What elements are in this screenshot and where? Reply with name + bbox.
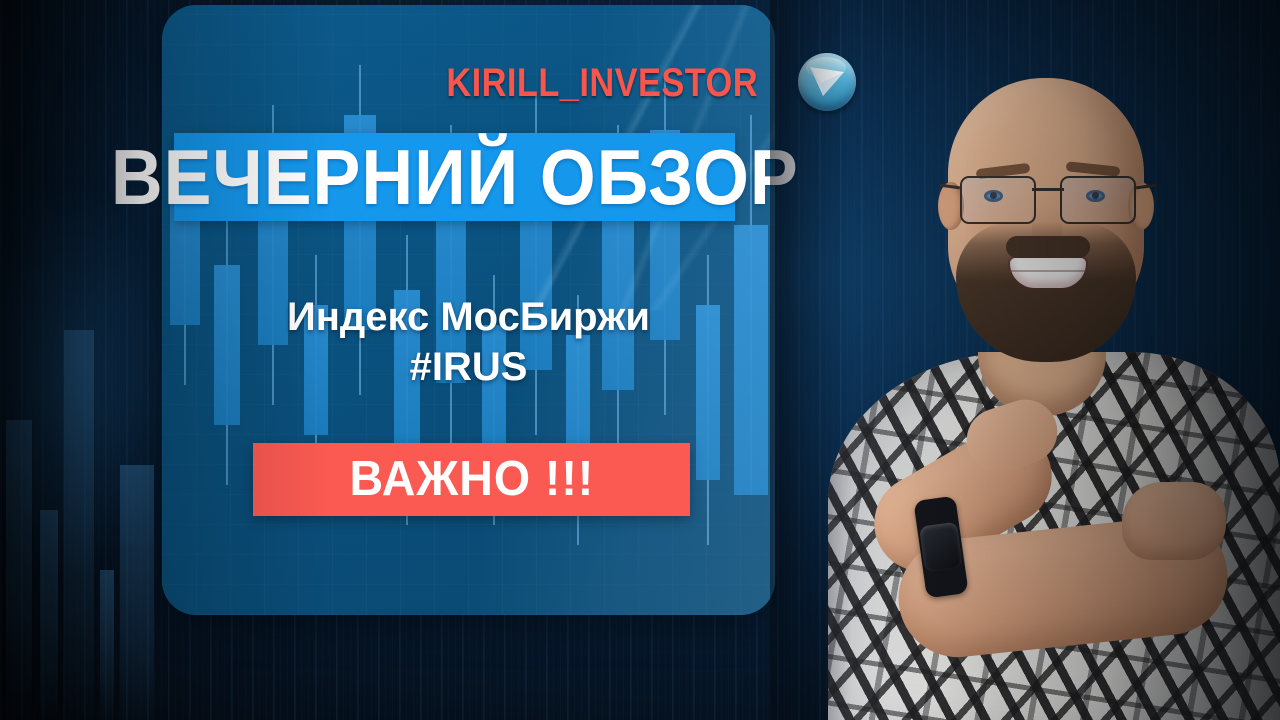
glasses-lens-left <box>960 176 1036 224</box>
presenter-mouth <box>1010 258 1086 288</box>
brand-name: KIRILL_INVESTOR <box>446 61 758 106</box>
presenter-mustache <box>1006 236 1090 258</box>
presenter-mouth-line <box>1010 270 1086 272</box>
subtitle-block: Индекс МосБиржи #IRUS <box>162 292 775 392</box>
glasses-bridge <box>1032 188 1064 191</box>
title-banner: ВЕЧЕРНИЙ ОБЗОР <box>174 133 735 221</box>
title-banner-text: ВЕЧЕРНИЙ ОБЗОР <box>111 138 799 216</box>
glasses-lens-right <box>1060 176 1136 224</box>
important-badge-label: ВАЖНО !!! <box>349 455 594 504</box>
thumbnail-canvas: KIRILL_INVESTOR ВЕЧЕРНИЙ ОБЗОР Индекс Мо… <box>0 0 1280 720</box>
presenter-hand <box>1122 482 1226 560</box>
presenter-photo <box>770 0 1280 720</box>
glasses-icon <box>960 176 1136 224</box>
smartwatch-face <box>919 522 963 573</box>
subtitle-line-2: #IRUS <box>162 342 775 392</box>
subtitle-line-1: Индекс МосБиржи <box>162 292 775 342</box>
important-badge[interactable]: ВАЖНО !!! <box>253 443 690 516</box>
